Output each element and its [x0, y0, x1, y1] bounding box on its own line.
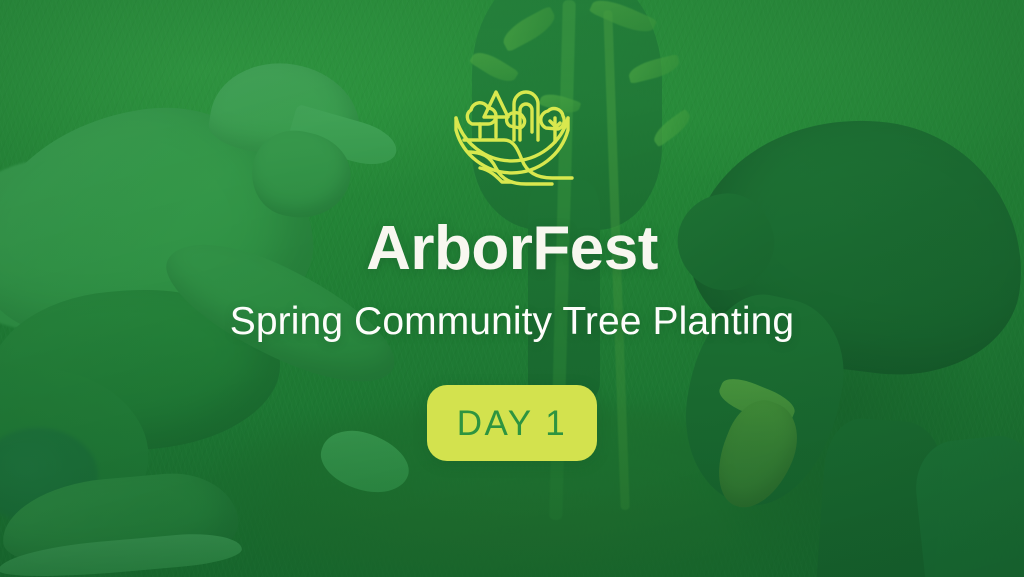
banner-content: ArborFest Spring Community Tree Planting… [0, 0, 1024, 577]
day-badge-label: DAY 1 [457, 406, 567, 441]
page-title: ArborFest [366, 218, 658, 280]
day-badge: DAY 1 [427, 385, 597, 461]
arborfest-banner: ArborFest Spring Community Tree Planting… [0, 0, 1024, 577]
arborfest-logo-icon [450, 84, 574, 190]
page-subtitle: Spring Community Tree Planting [230, 302, 794, 341]
